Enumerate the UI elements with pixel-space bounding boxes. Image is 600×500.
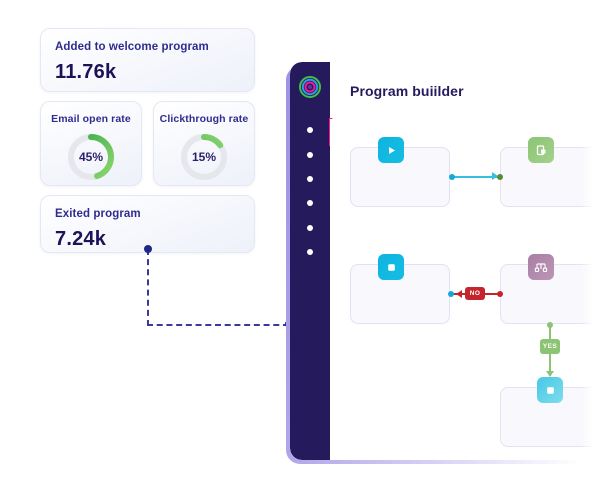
connector-dot-stop xyxy=(448,291,454,297)
sidebar-nav-dot-6[interactable] xyxy=(307,249,313,255)
sidebar-nav-dot-3[interactable] xyxy=(307,176,313,182)
sidebar-nav-dot-4[interactable] xyxy=(307,200,313,206)
connector-dot-start xyxy=(449,174,455,180)
stat-label-email-open-rate: Email open rate xyxy=(41,113,141,126)
concentric-circles-logo-icon[interactable] xyxy=(299,76,321,98)
panel-header: Program buiilder xyxy=(330,62,600,120)
stop-square-icon-end[interactable] xyxy=(537,377,563,403)
panel-sidebar xyxy=(290,62,330,460)
sidebar-nav-dot-5[interactable] xyxy=(307,225,313,231)
gauge-card-row: Email open rate 45% xyxy=(40,101,255,186)
gauge-value-clickthrough-rate: 15% xyxy=(178,131,230,183)
screen-root: Added to welcome program 11.76k Email op… xyxy=(0,0,600,500)
connector-label-no: NO xyxy=(465,287,485,300)
split-branch-icon[interactable] xyxy=(528,254,554,280)
connector-label-yes: YES xyxy=(540,339,560,354)
connector-dot-split-left xyxy=(497,291,503,297)
connector-arrow-email xyxy=(492,172,498,180)
stat-card-clickthrough-rate[interactable]: Clickthrough rate 15% xyxy=(153,101,255,186)
sidebar-nav-dot-1[interactable] xyxy=(307,127,313,133)
dashed-connector-vertical xyxy=(147,249,149,326)
sidebar-nav-dot-2[interactable] xyxy=(307,152,313,158)
flow-canvas[interactable]: NO YES xyxy=(330,119,600,460)
stat-label-exited: Exited program xyxy=(55,208,240,221)
stats-card-group: Added to welcome program 11.76k Email op… xyxy=(40,28,255,253)
connector-dot-split-bottom xyxy=(547,322,553,328)
stat-card-email-open-rate[interactable]: Email open rate 45% xyxy=(40,101,142,186)
stat-card-added[interactable]: Added to welcome program 11.76k xyxy=(40,28,255,92)
gauge-clickthrough-rate: 15% xyxy=(178,131,230,183)
stat-label-added: Added to welcome program xyxy=(55,41,240,54)
document-edit-icon[interactable] xyxy=(528,137,554,163)
stat-value-added: 11.76k xyxy=(55,61,240,83)
stop-square-icon[interactable] xyxy=(378,254,404,280)
stat-label-clickthrough-rate: Clickthrough rate xyxy=(154,113,254,126)
page-title: Program buiilder xyxy=(350,83,464,99)
dashed-connector-start-dot xyxy=(144,245,152,253)
play-icon[interactable] xyxy=(378,137,404,163)
dashed-connector-horizontal xyxy=(147,324,289,326)
program-builder-panel: Program buiilder xyxy=(290,62,600,460)
gauge-value-email-open-rate: 45% xyxy=(65,131,117,183)
connector-arrow-stop xyxy=(456,290,462,298)
gauge-email-open-rate: 45% xyxy=(65,131,117,183)
